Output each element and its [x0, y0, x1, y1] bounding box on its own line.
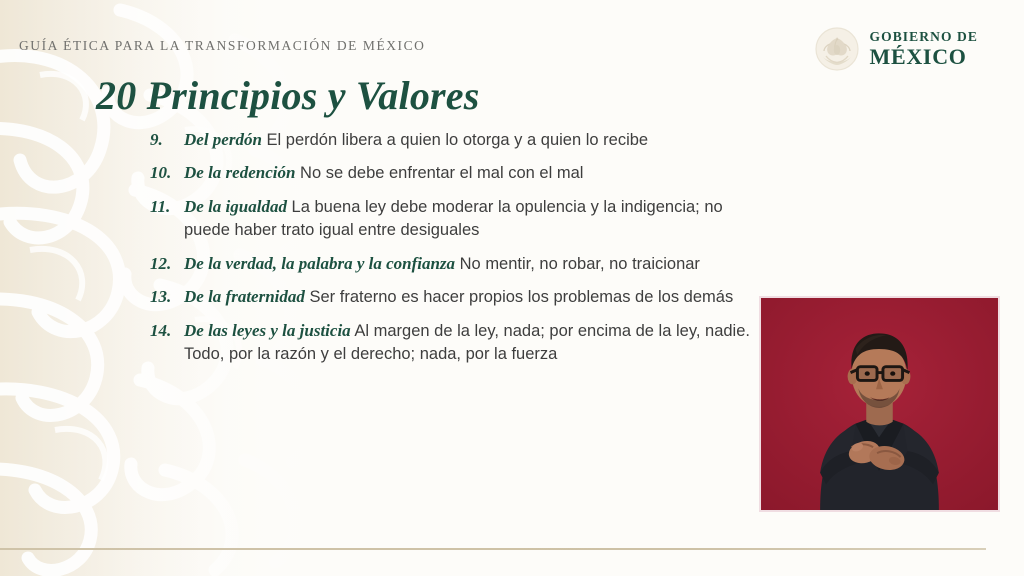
item-body: De la redención No se debe enfrentar el … [184, 161, 750, 185]
list-item: 11. De la igualdad La buena ley debe mod… [150, 195, 750, 243]
item-body: De las leyes y la justicia Al margen de … [184, 319, 750, 367]
item-number: 11. [150, 195, 184, 219]
list-item: 9. Del perdón El perdón libera a quien l… [150, 128, 750, 152]
item-body: De la verdad, la palabra y la confianza … [184, 252, 750, 276]
item-term: De la verdad, la palabra y la confianza [184, 254, 455, 273]
item-body: Del perdón El perdón libera a quien lo o… [184, 128, 750, 152]
sign-language-interpreter-video[interactable] [759, 296, 1000, 512]
item-description: No se debe enfrentar el mal con el mal [300, 164, 583, 182]
item-term: Del perdón [184, 130, 262, 149]
list-item: 10. De la redención No se debe enfrentar… [150, 161, 750, 185]
item-number: 14. [150, 319, 184, 343]
list-item: 12. De la verdad, la palabra y la confia… [150, 252, 750, 276]
item-term: De la fraternidad [184, 287, 305, 306]
mexican-coat-of-arms-icon [814, 26, 860, 72]
logo-line-mexico: MÉXICO [870, 46, 979, 68]
item-body: De la igualdad La buena ley debe moderar… [184, 195, 750, 243]
list-item: 13. De la fraternidad Ser fraterno es ha… [150, 285, 750, 309]
item-number: 12. [150, 252, 184, 276]
logo-line-gobierno: GOBIERNO DE [870, 30, 979, 44]
item-body: De la fraternidad Ser fraterno es hacer … [184, 285, 750, 309]
item-number: 9. [150, 128, 184, 152]
item-number: 13. [150, 285, 184, 309]
list-item: 14. De las leyes y la justicia Al margen… [150, 319, 750, 367]
page-title: 20 Principios y Valores [96, 72, 480, 119]
item-description: El perdón libera a quien lo otorga y a q… [267, 131, 649, 149]
gobierno-de-mexico-logo: GOBIERNO DE MÉXICO [814, 26, 979, 72]
item-description: Ser fraterno es hacer propios los proble… [309, 288, 733, 306]
item-description: No mentir, no robar, no traicionar [460, 255, 700, 273]
guide-kicker: GUÍA ÉTICA PARA LA TRANSFORMACIÓN DE MÉX… [19, 38, 425, 54]
footer-divider [0, 548, 986, 550]
item-term: De la redención [184, 163, 295, 182]
item-term: De las leyes y la justicia [184, 321, 351, 340]
item-term: De la igualdad [184, 197, 287, 216]
item-number: 10. [150, 161, 184, 185]
logo-wordmark: GOBIERNO DE MÉXICO [870, 30, 979, 68]
slide-root: GUÍA ÉTICA PARA LA TRANSFORMACIÓN DE MÉX… [0, 0, 1024, 576]
principles-list: 9. Del perdón El perdón libera a quien l… [150, 128, 750, 375]
